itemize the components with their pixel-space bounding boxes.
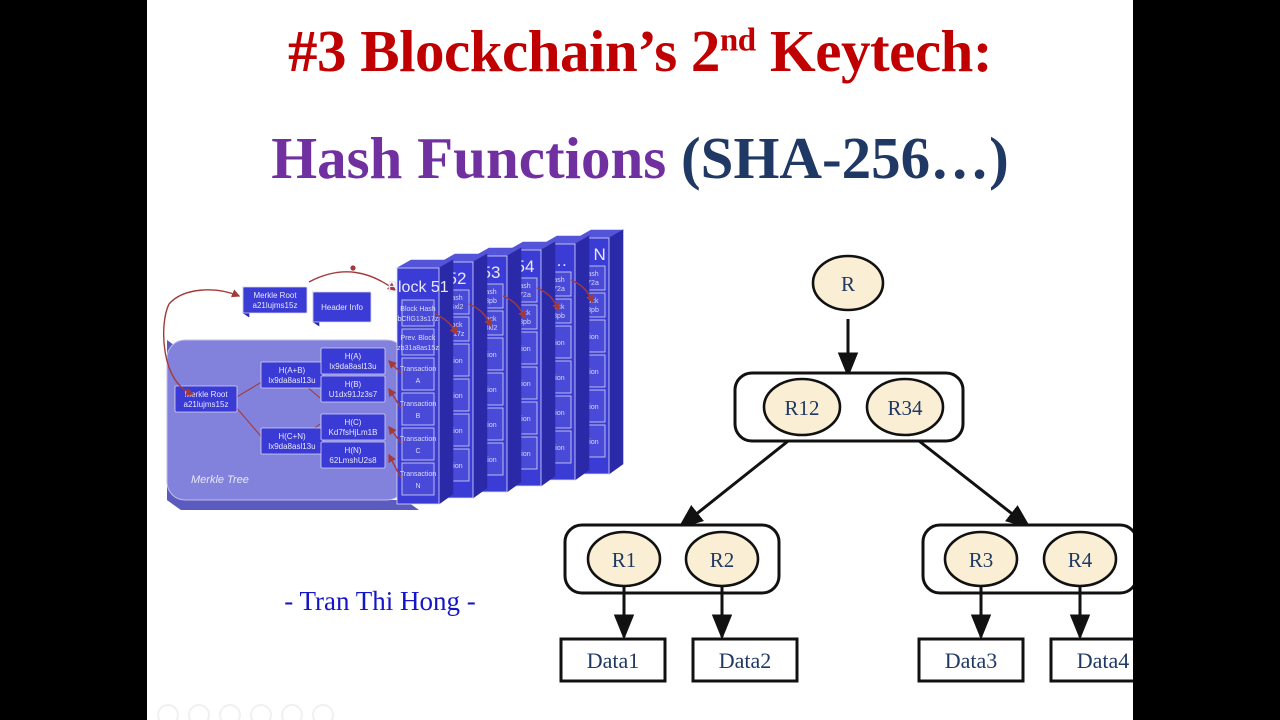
block-51-row-1-line2: zb31a8as15z — [397, 345, 439, 352]
slide-canvas: #3 Blockchain’s 2nd Keytech: Hash Functi… — [147, 0, 1133, 720]
merkle-mid-node-cn: H(C+N) lx9da8asl13u — [261, 428, 323, 454]
title-line-1-ordinal: nd — [720, 22, 756, 58]
merkle-leaf-a: H(A) lx9da8asl13u — [321, 348, 385, 374]
tree-node-r12-label: R12 — [784, 396, 819, 420]
merkle-mid-cn-line1: H(C+N) — [278, 432, 306, 441]
tree-node-root-label: R — [841, 272, 855, 296]
hash-tree-diagram: .node { fill:#FAEFD4; stroke:#111111; st… — [537, 245, 1133, 695]
edge-r12-to-left-group — [680, 430, 802, 527]
slide-title: #3 Blockchain’s 2nd Keytech: Hash Functi… — [147, 22, 1133, 188]
block-51-row-3-line1: Transaction — [400, 401, 436, 408]
merkle-leaf-a-line1: H(A) — [345, 352, 362, 361]
letterbox-bar-left — [0, 0, 147, 720]
tree-leaf-data3: Data3 — [919, 639, 1023, 681]
tree-node-r3: R3 — [945, 532, 1017, 586]
merkle-leaf-a-line2: lx9da8asl13u — [329, 362, 376, 371]
merkle-leaf-c-line1: H(C) — [345, 418, 362, 427]
block-51-row-5-line1: Transaction — [400, 471, 436, 478]
ghost-icon-1 — [157, 704, 179, 720]
block-51-row-3-line2: B — [416, 413, 421, 420]
tree-node-r12: R12 — [764, 379, 840, 435]
header-merkle-root-chip: Merkle Root a21lujms15z — [243, 287, 307, 317]
block-51-row-0-line1: Block Hash — [400, 306, 436, 313]
header-merkle-root-line1: Merkle Root — [253, 291, 297, 300]
merkle-leaf-c: H(C) Kd7fsHjLm1B — [321, 414, 385, 440]
edge-r34-to-right-group — [905, 430, 1029, 527]
title-line-1: #3 Blockchain’s 2nd Keytech: — [147, 22, 1133, 81]
ghost-icon-3 — [219, 704, 241, 720]
block-51-row-2-line1: Transaction — [400, 366, 436, 373]
merkle-tree-label: Merkle Tree — [191, 474, 249, 486]
merkle-mid-ab-line1: H(A+B) — [279, 366, 306, 375]
header-merkle-root-line2: a21lujms15z — [253, 301, 298, 310]
merkle-leaf-c-line2: Kd7fsHjLm1B — [329, 428, 378, 437]
block-51-row-4-line1: Transaction — [400, 436, 436, 443]
merkle-leaf-b-line2: U1dx91Jz3s7 — [329, 390, 378, 399]
block-51-row-0-line2: bCfIG13s17z — [398, 316, 439, 323]
tree-leaf-data4-label: Data4 — [1077, 648, 1130, 673]
merkle-mid-cn-line2: lx9da8asl13u — [268, 442, 315, 451]
merkle-leaf-b-line1: H(B) — [345, 380, 362, 389]
slide-stage: #3 Blockchain’s 2nd Keytech: Hash Functi… — [0, 0, 1280, 720]
merkle-leaf-n-line2: 62LmshU2s8 — [329, 456, 377, 465]
block-51-row-1-line1: Prev. Block — [401, 335, 436, 342]
title-line-2: Hash Functions (SHA-256…) — [147, 129, 1133, 188]
tree-leaf-data1-label: Data1 — [587, 648, 640, 673]
merkle-root-node-line1: Merkle Root — [184, 390, 228, 399]
ghost-icon-4 — [250, 704, 272, 720]
tree-node-r2: R2 — [686, 532, 758, 586]
tree-node-root: R — [813, 256, 883, 310]
merkle-leaf-n: H(N) 62LmshU2s8 — [321, 442, 385, 468]
block-51-row-2-line2: A — [416, 378, 421, 385]
ghost-icon-5 — [281, 704, 303, 720]
tree-node-r1: R1 — [588, 532, 660, 586]
author-credit: - Tran Thi Hong - — [215, 586, 545, 617]
header-info-label: Header Info — [321, 303, 363, 312]
ghost-icon-2 — [188, 704, 210, 720]
player-controls-ghost — [157, 704, 334, 720]
ghost-icon-6 — [312, 704, 334, 720]
tree-leaf-data2: Data2 — [693, 639, 797, 681]
tree-node-r3-label: R3 — [969, 548, 994, 572]
header-info-chip: Header Info — [313, 292, 371, 326]
tree-node-r4-label: R4 — [1068, 548, 1093, 572]
block-51-row-4-line2: C — [415, 448, 420, 455]
block-51: Block 51 Block Hash bCfIG13s17z Prev. Bl… — [387, 260, 453, 504]
tree-leaf-data2-label: Data2 — [719, 648, 772, 673]
letterbox-bar-right — [1133, 0, 1280, 720]
tree-node-r1-label: R1 — [612, 548, 637, 572]
tree-leaf-data1: Data1 — [561, 639, 665, 681]
tree-node-r34-label: R34 — [887, 396, 923, 420]
tree-node-r4: R4 — [1044, 532, 1116, 586]
merkle-mid-ab-line2: lx9da8asl13u — [268, 376, 315, 385]
title-line-1-prefix: #3 Blockchain’s 2 — [288, 18, 720, 84]
merkle-root-node-line2: a21lujms15z — [184, 400, 229, 409]
block-51-title: Block 51 — [387, 279, 448, 296]
merkle-mid-node-ab: H(A+B) lx9da8asl13u — [261, 362, 323, 388]
block-51-row-5-line2: N — [415, 483, 420, 490]
title-line-2-navy: (SHA-256…) — [681, 125, 1009, 191]
tree-leaf-data3-label: Data3 — [945, 648, 998, 673]
merkle-leaf-n-line1: H(N) — [345, 446, 362, 455]
merkle-leaf-b: H(B) U1dx91Jz3s7 — [321, 376, 385, 402]
tree-node-r34: R34 — [867, 379, 943, 435]
tree-node-r2-label: R2 — [710, 548, 735, 572]
title-line-1-suffix: Keytech: — [756, 18, 992, 84]
title-line-2-purple: Hash Functions — [271, 125, 681, 191]
tree-leaf-data4: Data4 — [1051, 639, 1133, 681]
